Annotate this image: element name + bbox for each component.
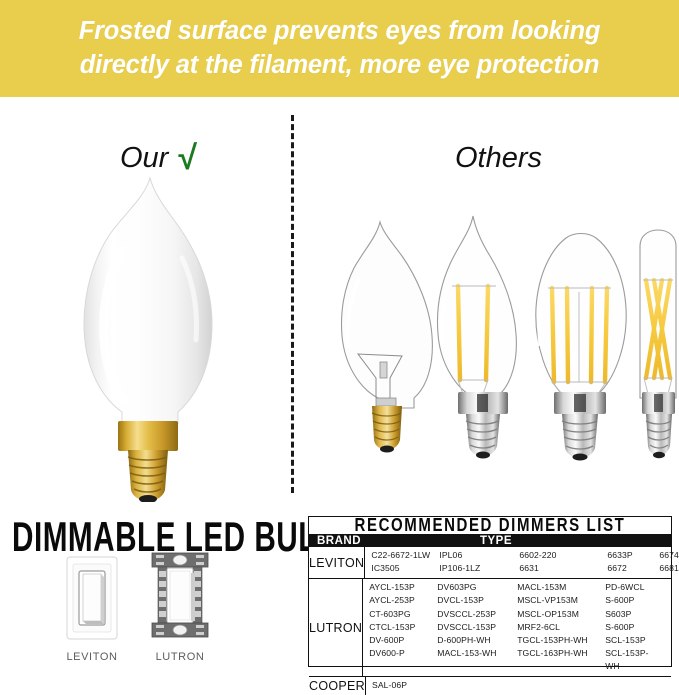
headline-line-1: Frosted surface prevents eyes from looki…	[79, 17, 601, 45]
type-value: PD-6WCL	[605, 581, 657, 594]
type-value: 6672	[607, 562, 659, 575]
dimmers-table-header-row: BRAND TYPE	[309, 535, 671, 547]
other-bulb-4	[640, 230, 676, 458]
other-bulbs-image	[340, 202, 679, 502]
other-bulb-3	[536, 234, 626, 461]
brand-cell: COOPER	[309, 677, 366, 695]
type-value: C22-6672-1LW	[371, 549, 439, 562]
type-value: S-600P	[605, 621, 657, 634]
table-row: LEVITONC22-6672-1LWIPL066602-2206633P667…	[309, 547, 671, 578]
type-value: AYCL-253P	[369, 594, 437, 607]
type-value: MSCL-VP153M	[517, 594, 605, 607]
type-line: CT-603PGDVSCCL-253PMSCL-OP153MS603P	[369, 608, 679, 621]
leviton-switch: LEVITON	[52, 555, 132, 663]
type-value	[660, 679, 679, 692]
type-value: MACL-153-WH	[437, 647, 517, 673]
type-line: SAL-06P	[372, 679, 679, 692]
comparison-section: Our√ Others	[0, 97, 679, 505]
type-line: AYCL-253PDVCL-153PMSCL-VP153MS-600P	[369, 594, 679, 607]
type-value: 6602-220	[519, 549, 607, 562]
vertical-dashed-divider	[291, 115, 294, 493]
type-value: 6631	[519, 562, 607, 575]
type-value	[657, 608, 679, 621]
our-label-text: Our	[120, 142, 168, 174]
table-row: COOPERSAL-06P	[309, 676, 671, 695]
type-value: SAL-06P	[372, 679, 440, 692]
headline-line-2: directly at the filament, more eye prote…	[80, 51, 600, 79]
others-label: Others	[455, 142, 542, 175]
type-value: TGCL-153PH-WH	[517, 634, 605, 647]
brand-cell: LEVITON	[309, 547, 365, 578]
type-line: DV-600PD-600PH-WHTGCL-153PH-WHSCL-153P	[369, 634, 679, 647]
type-line: IC3505IP106-1LZ663166726681	[371, 562, 679, 575]
type-value: DV600-P	[369, 647, 437, 673]
type-value: CT-603PG	[369, 608, 437, 621]
type-value	[657, 647, 679, 673]
type-line: CTCL-153PDVSCCL-153PMRF2-6CLS-600P	[369, 621, 679, 634]
type-value: DV-600P	[369, 634, 437, 647]
type-value: 6674	[659, 549, 679, 562]
recommended-dimmers-table: RECOMMENDED DIMMERS LIST BRAND TYPE LEVI…	[308, 516, 672, 667]
dimmer-switch-images: LEVITON	[0, 555, 300, 673]
headline-banner: Frosted surface prevents eyes from looki…	[0, 0, 679, 97]
type-value: DVCL-153P	[437, 594, 517, 607]
type-value: MSCL-OP153M	[517, 608, 605, 621]
other-bulb-1	[342, 222, 433, 453]
our-label: Our√	[120, 137, 197, 176]
dimmers-table-title-row: RECOMMENDED DIMMERS LIST	[309, 517, 671, 535]
type-value	[657, 581, 679, 594]
type-value	[657, 634, 679, 647]
type-value: TGCL-163PH-WH	[517, 647, 605, 673]
type-cell: C22-6672-1LWIPL066602-2206633P6674IC3505…	[365, 547, 679, 578]
type-value	[520, 679, 608, 692]
type-value: AYCL-153P	[369, 581, 437, 594]
type-cell: AYCL-153PDV603PGMACL-153MPD-6WCLAYCL-253…	[363, 579, 679, 676]
type-value: MRF2-6CL	[517, 621, 605, 634]
type-value: SCL-153P	[605, 634, 657, 647]
headline-text: Frosted surface prevents eyes from looki…	[20, 15, 660, 82]
type-value: 6681	[659, 562, 679, 575]
type-cell: SAL-06P	[366, 677, 679, 695]
dimmers-table-title: RECOMMENDED DIMMERS LIST	[355, 515, 626, 536]
type-value: D-600PH-WH	[437, 634, 517, 647]
type-value: SCL-153P-WH	[605, 647, 657, 673]
type-value: CTCL-153P	[369, 621, 437, 634]
type-line: AYCL-153PDV603PGMACL-153MPD-6WCL	[369, 581, 679, 594]
column-header-brand: BRAND	[309, 535, 381, 547]
lutron-caption: LUTRON	[140, 651, 220, 663]
other-bulb-2	[438, 216, 517, 459]
type-value: IP106-1LZ	[439, 562, 519, 575]
type-value	[440, 679, 520, 692]
column-header-type: TYPE	[381, 535, 671, 547]
type-value: IPL06	[439, 549, 519, 562]
table-row: LUTRONAYCL-153PDV603PGMACL-153MPD-6WCLAY…	[309, 578, 671, 676]
lutron-switch-icon	[140, 551, 220, 641]
type-value: IC3505	[371, 562, 439, 575]
dimmable-section: DIMMABLE LED BULB LEVITON	[0, 505, 300, 673]
type-value: S603P	[605, 608, 657, 621]
type-value	[657, 621, 679, 634]
type-value: DVSCCL-253P	[437, 608, 517, 621]
type-value	[608, 679, 660, 692]
brand-cell: LUTRON	[309, 579, 363, 676]
leviton-switch-icon	[52, 555, 132, 641]
our-bulb-image	[66, 172, 236, 502]
lutron-switch: LUTRON	[140, 551, 220, 663]
type-value: DV603PG	[437, 581, 517, 594]
type-value: 6633P	[607, 549, 659, 562]
type-value: MACL-153M	[517, 581, 605, 594]
type-line: C22-6672-1LWIPL066602-2206633P6674	[371, 549, 679, 562]
type-value: DVSCCL-153P	[437, 621, 517, 634]
type-value: S-600P	[605, 594, 657, 607]
type-line: DV600-PMACL-153-WHTGCL-163PH-WHSCL-153P-…	[369, 647, 679, 673]
leviton-caption: LEVITON	[52, 651, 132, 663]
type-value	[657, 594, 679, 607]
